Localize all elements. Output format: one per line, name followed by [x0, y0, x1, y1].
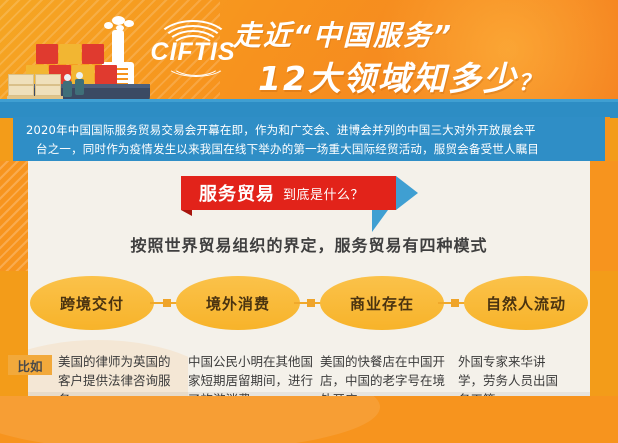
modes-row: 跨境交付 境外消费 商业存在 自然人流动 [28, 276, 590, 330]
headline-line-2: 12大领域知多少？ [258, 52, 542, 100]
mode-oval-3[interactable]: 商业存在 [320, 276, 444, 330]
footer-band [0, 396, 618, 443]
cargo-pallet [35, 85, 61, 96]
service-trade-banner: 服务贸易 到底是什么？ [181, 176, 396, 210]
intro-line-2: 台之一，同时作为疫情发生以来我国在线下举办的第一场重大国际经贸活动，服贸会备受世… [26, 140, 595, 159]
container-box [82, 44, 104, 64]
cargo-pallet [8, 85, 34, 96]
container-box [95, 65, 117, 85]
cargo-pallet [8, 74, 34, 85]
smoke-puff-icon [124, 20, 134, 27]
banner-blue-tail [372, 210, 388, 232]
banner-subtitle: 到底是什么？ [283, 184, 364, 203]
intro-paragraph-box: 2020年中国国际服务贸易交易会开幕在即，作为和广交会、进博会并列的中国三大对外… [13, 117, 605, 161]
container-box [59, 44, 81, 64]
headline-question-mark: ？ [518, 71, 542, 96]
example-label-tag: 比如 [8, 355, 52, 375]
banner-title: 服务贸易 [199, 180, 275, 206]
footer-swirl-decoration [0, 396, 380, 443]
banner-fold-shadow [181, 210, 192, 216]
intro-line-1: 2020年中国国际服务贸易交易会开幕在即，作为和广交会、进博会并列的中国三大对外… [26, 121, 595, 140]
container-box [36, 44, 58, 64]
cargo-ship-illustration [8, 16, 168, 106]
headline-line-1: 走近“中国服务” [233, 14, 453, 54]
logo-wordmark: CIFTIS [145, 38, 241, 67]
water-band [0, 99, 618, 118]
logo-underswoosh-icon [161, 65, 231, 77]
mode-oval-4[interactable]: 自然人流动 [464, 276, 588, 330]
headline-line-2-text: 12大领域知多少 [258, 59, 518, 98]
subheadline: 按照世界贸易组织的界定，服务贸易有四种模式 [0, 232, 618, 256]
smoke-puff-icon [104, 22, 113, 29]
ciftis-logo: CIFTIS [145, 18, 241, 76]
mode-oval-1[interactable]: 跨境交付 [30, 276, 154, 330]
cargo-pallet [35, 74, 61, 85]
infographic-page: CIFTIS 走近“中国服务” 12大领域知多少？ 2020年中国国际服务贸易交… [0, 0, 618, 443]
mode-oval-2[interactable]: 境外消费 [176, 276, 300, 330]
intro-right-edge [605, 117, 610, 161]
banner-arrow-icon [396, 176, 418, 210]
